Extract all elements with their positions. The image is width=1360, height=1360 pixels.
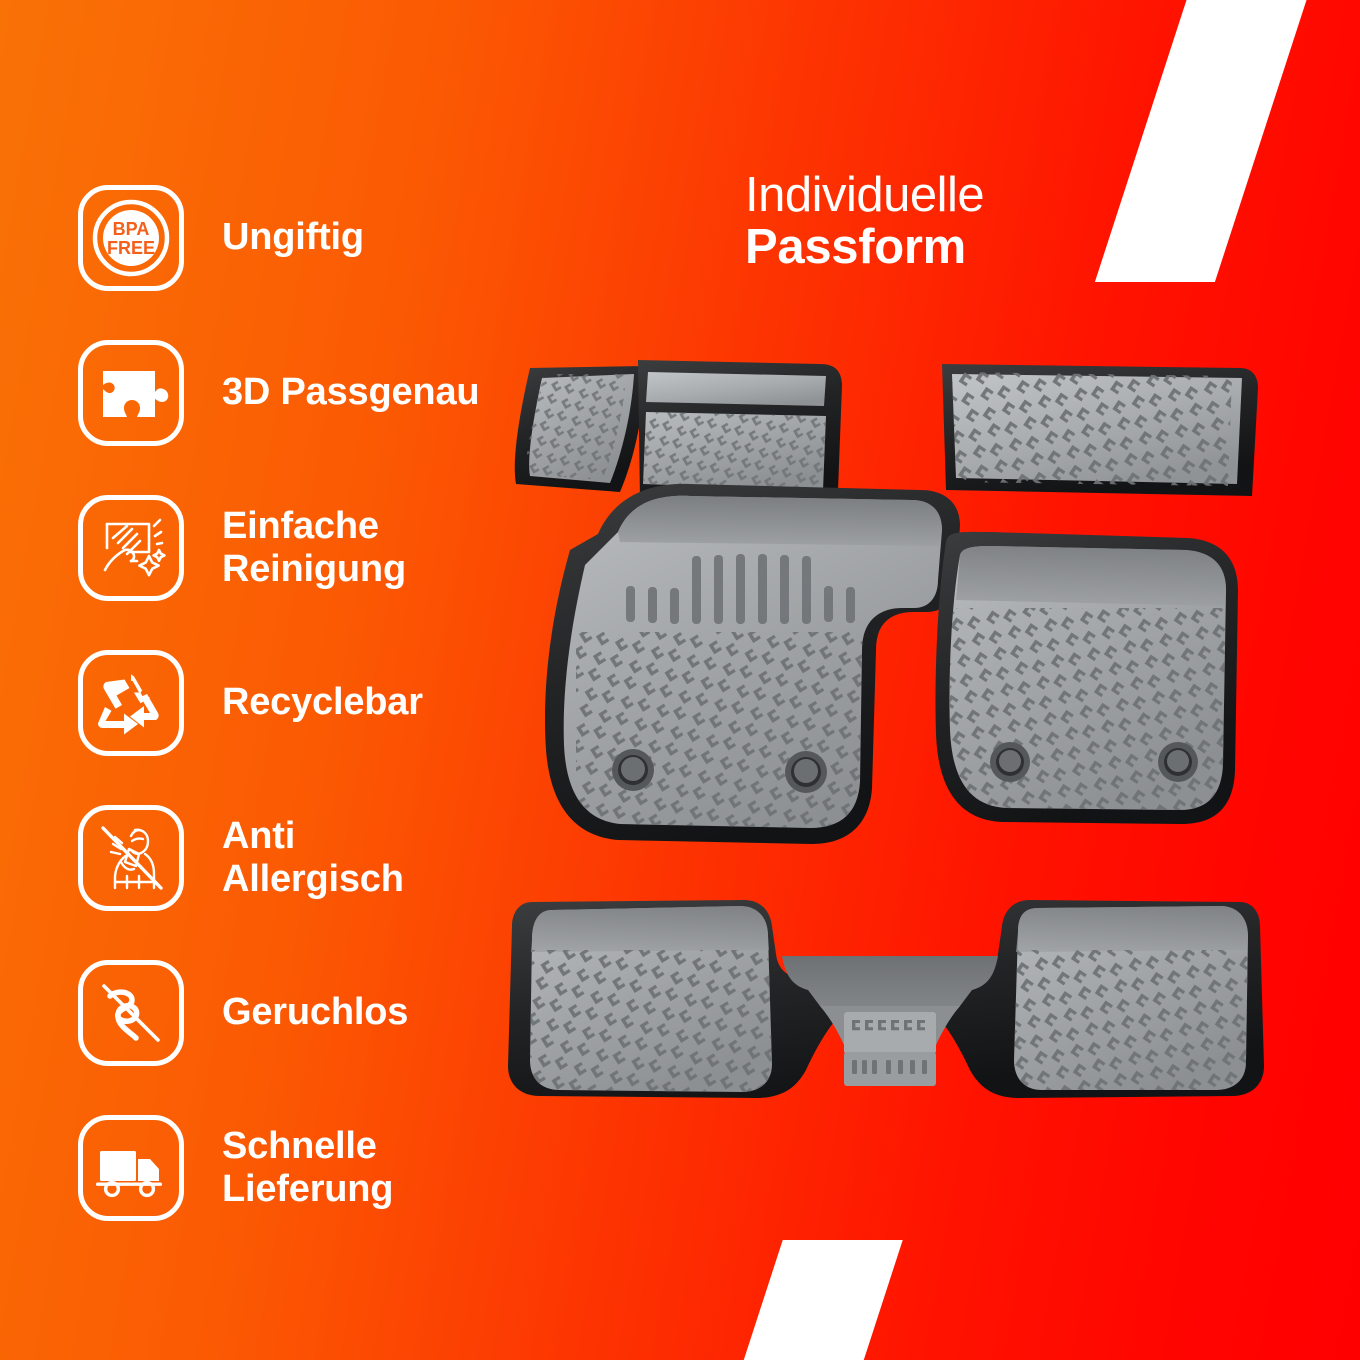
feature-item-3d-passgenau: 3D Passgenau [78,315,548,470]
feature-item-ungiftig: BPA FREE Ungiftig [78,160,548,315]
feature-list: BPA FREE Ungiftig 3D Passgenau [78,160,548,1245]
bpa-free-icon: BPA FREE [78,185,184,291]
feature-item-geruchlos: Geruchlos [78,935,548,1090]
no-odour-icon [78,960,184,1066]
headline-line-2: Passform [745,222,984,274]
feature-item-einfache-reinigung: Einfache Reinigung [78,470,548,625]
front-right-mat [935,360,1260,824]
feature-label: Ungiftig [222,216,364,259]
feature-item-recyclebar: Recyclebar [78,625,548,780]
diagonal-stripe-bottom [737,1240,902,1360]
rear-bench-mat [508,900,1268,1100]
feature-label: Geruchlos [222,991,408,1034]
svg-text:FREE: FREE [107,238,155,258]
promo-banner: Individuelle Passform BPA FREE Ungiftig [0,0,1360,1360]
headline: Individuelle Passform [745,170,984,274]
puzzle-piece-icon [78,340,184,446]
front-left-mat [515,360,960,844]
svg-text:BPA: BPA [113,219,150,239]
wiping-hand-icon [78,495,184,601]
feature-item-schnelle-lieferung: Schnelle Lieferung [78,1090,548,1245]
feature-label: 3D Passgenau [222,371,479,414]
feature-label: Einfache Reinigung [222,505,406,590]
no-allergy-icon [78,805,184,911]
headline-line-1: Individuelle [745,170,984,222]
diagonal-stripe-top [1095,0,1309,282]
product-image-car-mat-set [490,350,1290,1180]
feature-label: Anti Allergisch [222,815,404,900]
recycle-icon [78,650,184,756]
feature-label: Schnelle Lieferung [222,1125,393,1210]
delivery-truck-icon [78,1115,184,1221]
feature-item-anti-allergisch: Anti Allergisch [78,780,548,935]
feature-label: Recyclebar [222,681,423,724]
